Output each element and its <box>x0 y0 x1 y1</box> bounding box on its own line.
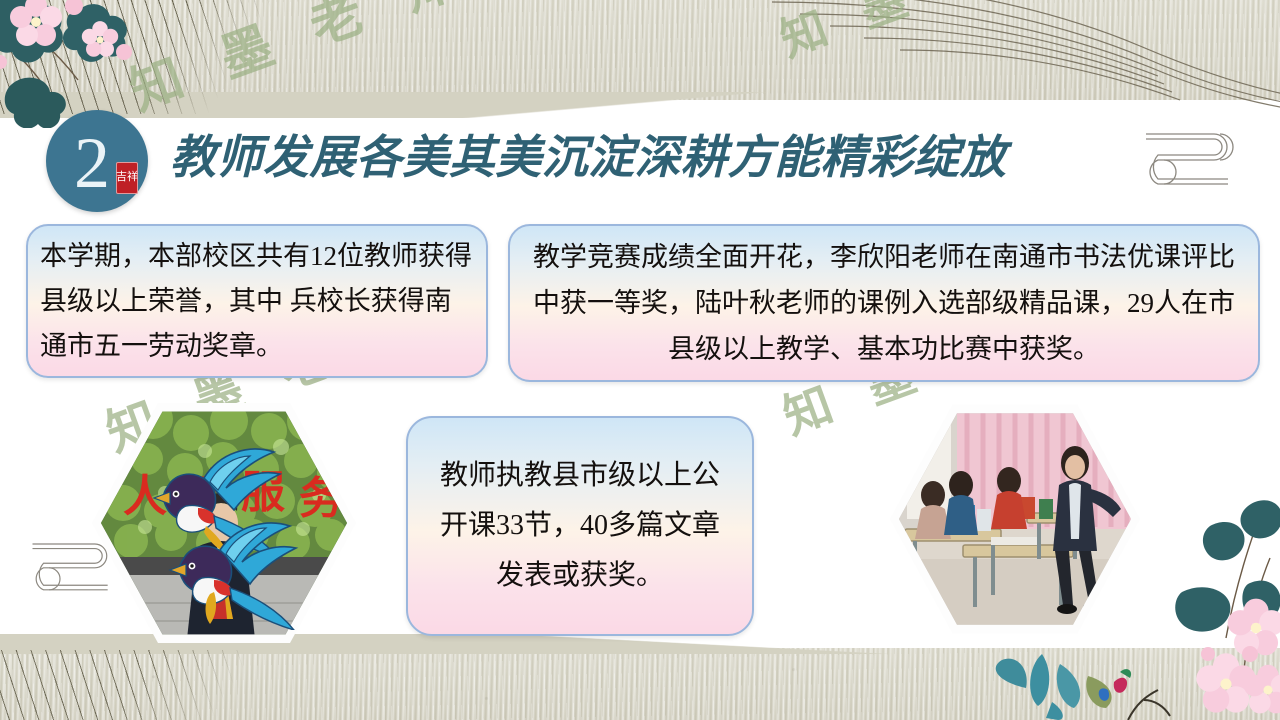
svg-text:服: 服 <box>241 468 285 517</box>
seal-stamp: 吉祥 <box>116 162 138 194</box>
section-number-badge: 2 吉祥 <box>46 110 148 212</box>
paper-speckle <box>0 648 1280 720</box>
svg-text:人: 人 <box>123 472 167 521</box>
text-card-middle: 教师执教县市级以上公开课33节，40多篇文章发表或获奖。 <box>406 416 754 636</box>
text-card-left-body: 本学期，本部校区共有12位教师获得县级以上荣誉，其中 兵校长获得南通市五一劳动奖… <box>28 234 486 369</box>
text-card-right-body: 教学竞赛成绩全面开花，李欣阳老师在南通市书法优课评比中获一等奖，陆叶秋老师的课例… <box>510 234 1258 372</box>
photo-hex-left[interactable]: 人才服务 <box>92 398 356 648</box>
text-card-right: 教学竞赛成绩全面开花，李欣阳老师在南通市书法优课评比中获一等奖，陆叶秋老师的课例… <box>508 224 1260 382</box>
text-card-middle-body: 教师执教县市级以上公开课33节，40多篇文章发表或获奖。 <box>408 451 752 601</box>
bottom-paper-band <box>0 648 1280 720</box>
wave-lines-decor <box>760 0 1280 111</box>
page-title: 教师发展各美其美沉淀深耕方能精彩绽放 <box>170 126 1070 190</box>
photo-hex-right[interactable] <box>890 400 1140 638</box>
slide-canvas: 知 墨 老 师 知 墨 老 师 知 墨 老 师 知 墨 老 师 <box>0 0 1280 720</box>
cloud-motif-right <box>1128 126 1248 190</box>
text-card-left: 本学期，本部校区共有12位教师获得县级以上荣誉，其中 兵校长获得南通市五一劳动奖… <box>26 224 488 378</box>
